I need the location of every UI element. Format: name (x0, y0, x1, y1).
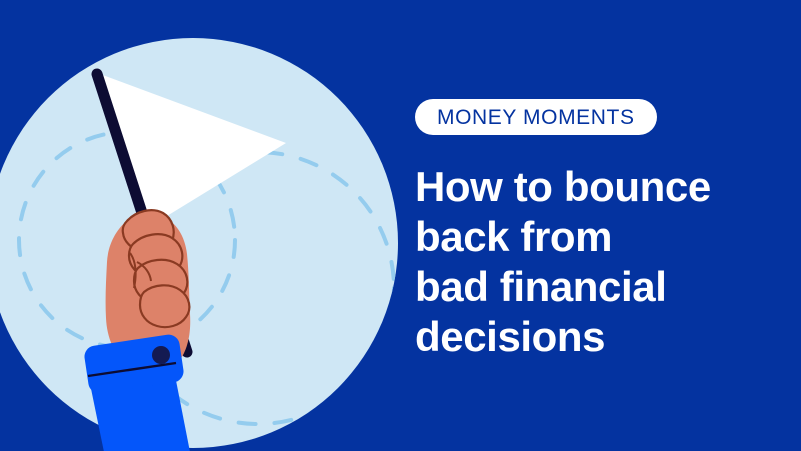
headline-line-3: bad financial (415, 262, 755, 312)
illustration-hand-holding-white-flag (0, 0, 401, 451)
headline-line-2: back from (415, 212, 755, 262)
category-badge: MONEY MOMENTS (415, 99, 657, 135)
cuff-button (152, 346, 170, 364)
headline-line-4: decisions (415, 312, 755, 362)
category-badge-label: MONEY MOMENTS (437, 107, 635, 128)
backdrop-circle (0, 38, 398, 448)
sleeve (83, 333, 190, 451)
promo-banner: MONEY MOMENTS How to bounce back from ba… (0, 0, 801, 451)
headline-line-1: How to bounce (415, 162, 755, 212)
text-content: MONEY MOMENTS How to bounce back from ba… (415, 0, 801, 451)
page-title: How to bounce back from bad financial de… (415, 162, 755, 362)
